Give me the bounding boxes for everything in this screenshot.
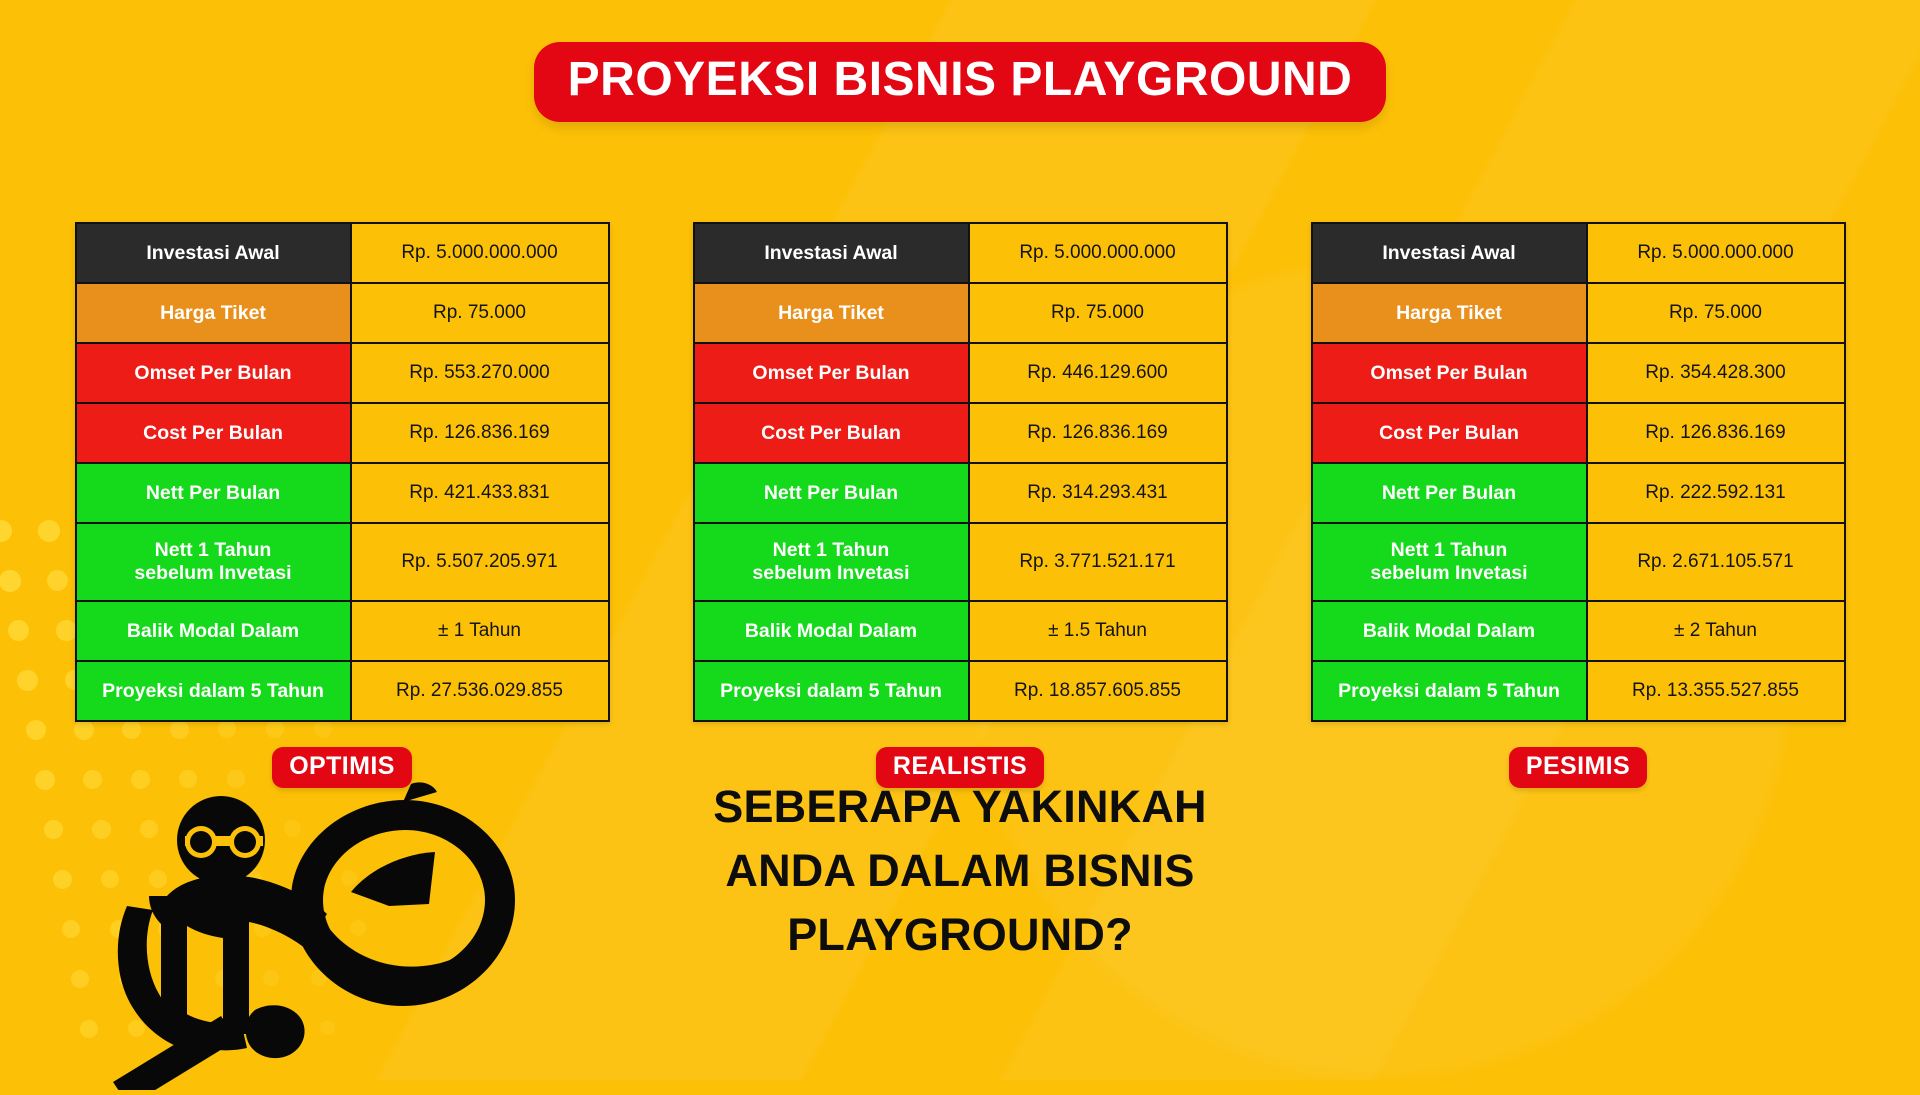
person-with-magnifying-glass-icon (105, 760, 545, 1090)
question-block: SEBERAPA YAKINKAH ANDA DALAM BISNIS PLAY… (640, 775, 1280, 967)
table-row: Nett 1 Tahunsebelum InvetasiRp. 2.671.10… (1312, 523, 1845, 601)
table-row: Investasi AwalRp. 5.000.000.000 (694, 223, 1227, 283)
table-row: Nett Per BulanRp. 314.293.431 (694, 463, 1227, 523)
row-label: Omset Per Bulan (1312, 343, 1587, 403)
table-row: Proyeksi dalam 5 TahunRp. 18.857.605.855 (694, 661, 1227, 721)
row-value: Rp. 5.507.205.971 (351, 523, 609, 601)
row-label: Proyeksi dalam 5 Tahun (76, 661, 351, 721)
row-value: Rp. 13.355.527.855 (1587, 661, 1845, 721)
row-label: Balik Modal Dalam (76, 601, 351, 661)
row-label: Omset Per Bulan (76, 343, 351, 403)
row-value: ± 2 Tahun (1587, 601, 1845, 661)
table-row: Omset Per BulanRp. 446.129.600 (694, 343, 1227, 403)
row-label: Proyeksi dalam 5 Tahun (1312, 661, 1587, 721)
projection-column-realistis: Investasi AwalRp. 5.000.000.000Harga Tik… (704, 222, 1217, 788)
row-value: ± 1 Tahun (351, 601, 609, 661)
row-label: Nett 1 Tahunsebelum Invetasi (76, 523, 351, 601)
row-value: Rp. 126.836.169 (351, 403, 609, 463)
row-value: Rp. 421.433.831 (351, 463, 609, 523)
question-line-3: PLAYGROUND? (640, 903, 1280, 967)
row-value: ± 1.5 Tahun (969, 601, 1227, 661)
row-label: Cost Per Bulan (1312, 403, 1587, 463)
row-value: Rp. 27.536.029.855 (351, 661, 609, 721)
row-value: Rp. 5.000.000.000 (351, 223, 609, 283)
table-row: Nett Per BulanRp. 222.592.131 (1312, 463, 1845, 523)
projection-tables: Investasi AwalRp. 5.000.000.000Harga Tik… (0, 222, 1920, 788)
projection-column-pesimis: Investasi AwalRp. 5.000.000.000Harga Tik… (1322, 222, 1835, 788)
table-row: Nett 1 Tahunsebelum InvetasiRp. 5.507.20… (76, 523, 609, 601)
table-row: Balik Modal Dalam± 1.5 Tahun (694, 601, 1227, 661)
table-row: Cost Per BulanRp. 126.836.169 (76, 403, 609, 463)
table-row: Balik Modal Dalam± 1 Tahun (76, 601, 609, 661)
table-row: Harga TiketRp. 75.000 (1312, 283, 1845, 343)
table-row: Cost Per BulanRp. 126.836.169 (1312, 403, 1845, 463)
table-row: Omset Per BulanRp. 553.270.000 (76, 343, 609, 403)
table-row: Proyeksi dalam 5 TahunRp. 27.536.029.855 (76, 661, 609, 721)
table-row: Cost Per BulanRp. 126.836.169 (694, 403, 1227, 463)
table-row: Harga TiketRp. 75.000 (694, 283, 1227, 343)
row-label: Balik Modal Dalam (1312, 601, 1587, 661)
table-row: Proyeksi dalam 5 TahunRp. 13.355.527.855 (1312, 661, 1845, 721)
row-label: Nett Per Bulan (76, 463, 351, 523)
row-value: Rp. 3.771.521.171 (969, 523, 1227, 601)
question-line-2: ANDA DALAM BISNIS (640, 839, 1280, 903)
page-title: PROYEKSI BISNIS PLAYGROUND (534, 42, 1387, 122)
row-label: Nett Per Bulan (1312, 463, 1587, 523)
table-row: Investasi AwalRp. 5.000.000.000 (1312, 223, 1845, 283)
decorative-dot (62, 920, 80, 938)
decorative-dot (44, 820, 63, 839)
row-value: Rp. 126.836.169 (969, 403, 1227, 463)
row-value: Rp. 446.129.600 (969, 343, 1227, 403)
decorative-dot (71, 970, 89, 988)
table-row: Nett Per BulanRp. 421.433.831 (76, 463, 609, 523)
row-value: Rp. 222.592.131 (1587, 463, 1845, 523)
projection-table: Investasi AwalRp. 5.000.000.000Harga Tik… (1311, 222, 1846, 722)
table-row: Investasi AwalRp. 5.000.000.000 (76, 223, 609, 283)
projection-table: Investasi AwalRp. 5.000.000.000Harga Tik… (75, 222, 610, 722)
decorative-dot (53, 870, 72, 889)
row-label: Proyeksi dalam 5 Tahun (694, 661, 969, 721)
decorative-dot (80, 1020, 98, 1038)
table-row: Omset Per BulanRp. 354.428.300 (1312, 343, 1845, 403)
row-label: Nett Per Bulan (694, 463, 969, 523)
projection-column-optimis: Investasi AwalRp. 5.000.000.000Harga Tik… (86, 222, 599, 788)
row-label: Cost Per Bulan (76, 403, 351, 463)
row-value: Rp. 18.857.605.855 (969, 661, 1227, 721)
row-label: Nett 1 Tahunsebelum Invetasi (1312, 523, 1587, 601)
row-label: Harga Tiket (694, 283, 969, 343)
row-label: Balik Modal Dalam (694, 601, 969, 661)
table-row: Nett 1 Tahunsebelum InvetasiRp. 3.771.52… (694, 523, 1227, 601)
row-label: Harga Tiket (76, 283, 351, 343)
row-value: Rp. 314.293.431 (969, 463, 1227, 523)
row-label: Cost Per Bulan (694, 403, 969, 463)
row-label: Harga Tiket (1312, 283, 1587, 343)
table-row: Harga TiketRp. 75.000 (76, 283, 609, 343)
row-value: Rp. 75.000 (969, 283, 1227, 343)
scenario-badge[interactable]: PESIMIS (1509, 747, 1647, 788)
row-label: Investasi Awal (694, 223, 969, 283)
row-label: Nett 1 Tahunsebelum Invetasi (694, 523, 969, 601)
row-label: Investasi Awal (76, 223, 351, 283)
row-value: Rp. 2.671.105.571 (1587, 523, 1845, 601)
row-value: Rp. 75.000 (351, 283, 609, 343)
row-value: Rp. 126.836.169 (1587, 403, 1845, 463)
row-value: Rp. 5.000.000.000 (1587, 223, 1845, 283)
row-value: Rp. 75.000 (1587, 283, 1845, 343)
row-value: Rp. 5.000.000.000 (969, 223, 1227, 283)
row-label: Investasi Awal (1312, 223, 1587, 283)
row-value: Rp. 553.270.000 (351, 343, 609, 403)
title-area: PROYEKSI BISNIS PLAYGROUND (0, 42, 1920, 122)
question-line-1: SEBERAPA YAKINKAH (640, 775, 1280, 839)
row-value: Rp. 354.428.300 (1587, 343, 1845, 403)
projection-table: Investasi AwalRp. 5.000.000.000Harga Tik… (693, 222, 1228, 722)
row-label: Omset Per Bulan (694, 343, 969, 403)
table-row: Balik Modal Dalam± 2 Tahun (1312, 601, 1845, 661)
